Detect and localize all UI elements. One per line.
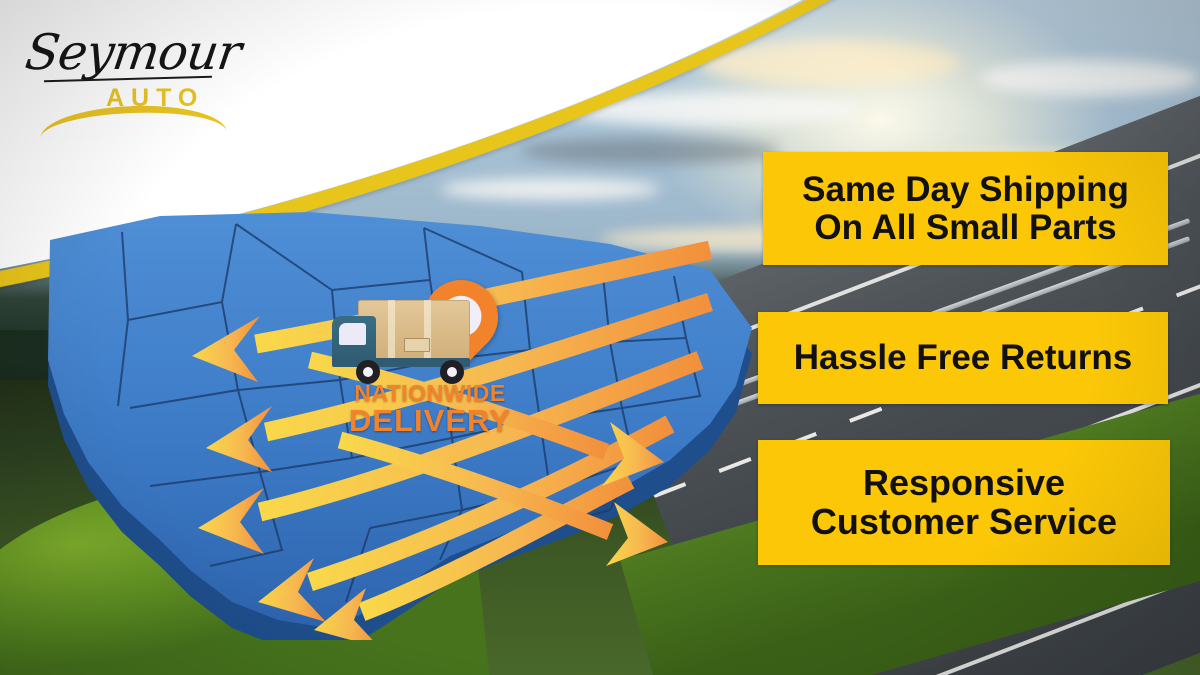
callout-responsive-customer-service[interactable]: Responsive Customer Service xyxy=(758,440,1170,565)
badge-line-2: DELIVERY xyxy=(330,405,530,436)
nationwide-delivery-text: NATIONWIDE DELIVERY xyxy=(330,382,530,436)
badge-line-1: NATIONWIDE xyxy=(330,382,530,405)
logo-script-name: Seymour xyxy=(22,24,244,81)
callout-2-line-1: Hassle Free Returns xyxy=(794,339,1132,376)
callout-3-line-2: Customer Service xyxy=(811,503,1117,541)
callout-1-line-2: On All Small Parts xyxy=(814,209,1116,246)
callout-hassle-free-returns[interactable]: Hassle Free Returns xyxy=(758,312,1168,404)
callout-3-line-1: Responsive xyxy=(863,464,1065,502)
promo-banner: NATIONWIDE DELIVERY Seymour AUTO Same Da… xyxy=(0,0,1200,675)
callout-1-line-1: Same Day Shipping xyxy=(802,171,1129,208)
callout-same-day-shipping[interactable]: Same Day Shipping On All Small Parts xyxy=(763,152,1168,265)
package-label-icon xyxy=(404,338,430,352)
nationwide-delivery-badge: NATIONWIDE DELIVERY xyxy=(330,278,530,453)
seymour-auto-logo[interactable]: Seymour AUTO xyxy=(26,18,226,128)
truck-cab-icon xyxy=(332,316,376,362)
